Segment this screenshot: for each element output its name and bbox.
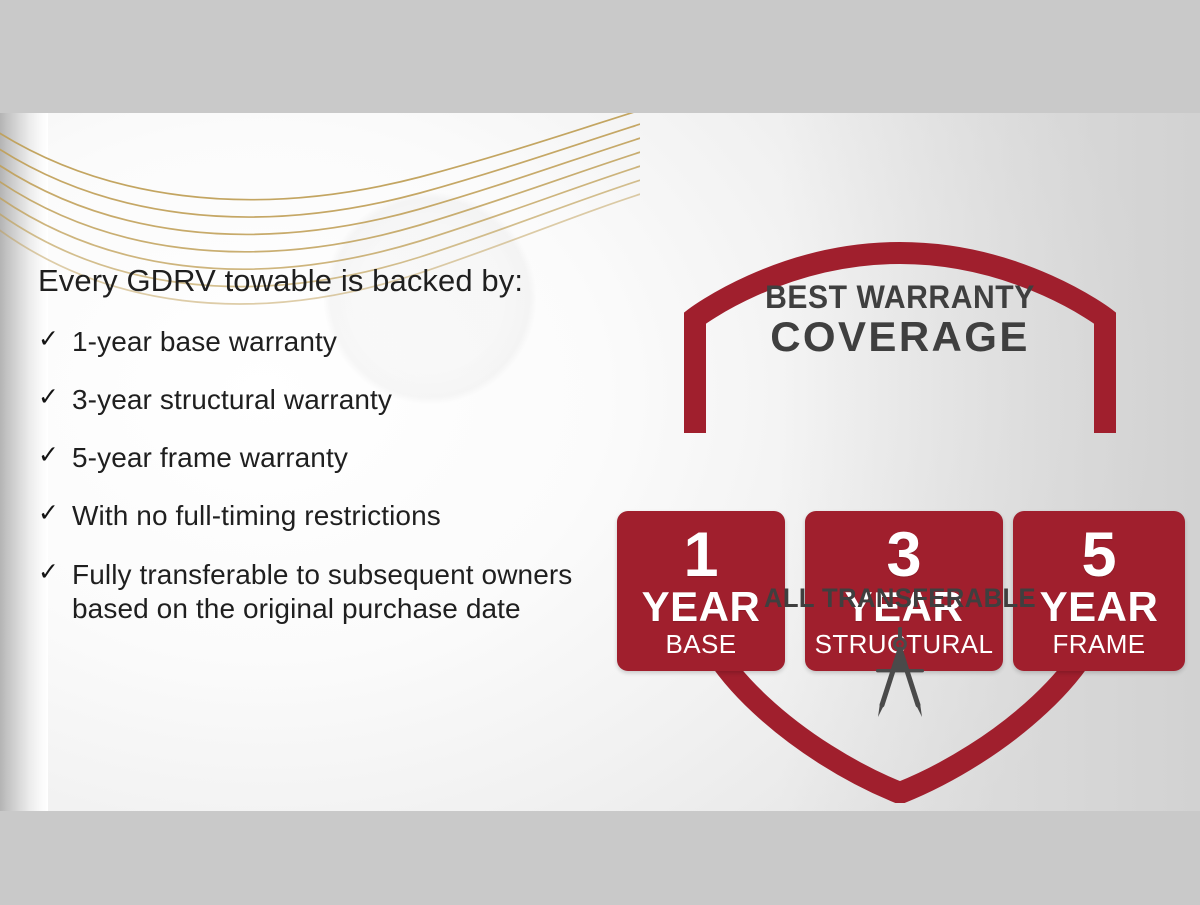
page-title: Every GDRV towable is backed by: [38, 263, 638, 299]
drafting-compass-icon [858, 625, 942, 721]
term-unit: YEAR [1040, 586, 1159, 628]
slide-canvas: Every GDRV towable is backed by: ✓ 1-yea… [0, 0, 1200, 905]
term-box-frame[interactable]: 5 YEAR FRAME [1013, 511, 1185, 671]
list-item: ✓ 5-year frame warranty [38, 441, 638, 475]
list-item-label: 1-year base warranty [72, 325, 337, 359]
warranty-bullet-list: ✓ 1-year base warranty ✓ 3-year structur… [38, 325, 638, 626]
list-item-label: Fully transferable to subsequent owners … [72, 558, 612, 626]
list-item: ✓ 1-year base warranty [38, 325, 638, 359]
term-number: 5 [1081, 526, 1116, 585]
check-mark-icon: ✓ [38, 499, 72, 529]
list-item-label: With no full-timing restrictions [72, 499, 441, 533]
term-number: 1 [683, 526, 718, 585]
check-mark-icon: ✓ [38, 441, 72, 471]
list-item-label: 3-year structural warranty [72, 383, 392, 417]
list-item: ✓ Fully transferable to subsequent owner… [38, 558, 638, 626]
term-number: 3 [886, 526, 921, 585]
check-mark-icon: ✓ [38, 558, 72, 588]
check-mark-icon: ✓ [38, 325, 72, 355]
list-item-label: 5-year frame warranty [72, 441, 348, 475]
list-item: ✓ With no full-timing restrictions [38, 499, 638, 533]
list-item: ✓ 3-year structural warranty [38, 383, 638, 417]
slide-content-area: Every GDRV towable is backed by: ✓ 1-yea… [0, 113, 1200, 811]
term-unit: YEAR [642, 586, 761, 628]
term-kind: FRAME [1053, 631, 1146, 658]
check-mark-icon: ✓ [38, 383, 72, 413]
term-kind: BASE [666, 631, 737, 658]
best-warranty-coverage-badge: BEST WARRANTY COVERAGE 1 YEAR BASE 3 YEA… [600, 233, 1200, 803]
warranty-copy-block: Every GDRV towable is backed by: ✓ 1-yea… [38, 263, 638, 650]
term-unit: YEAR [845, 586, 964, 628]
term-box-base[interactable]: 1 YEAR BASE [617, 511, 785, 671]
